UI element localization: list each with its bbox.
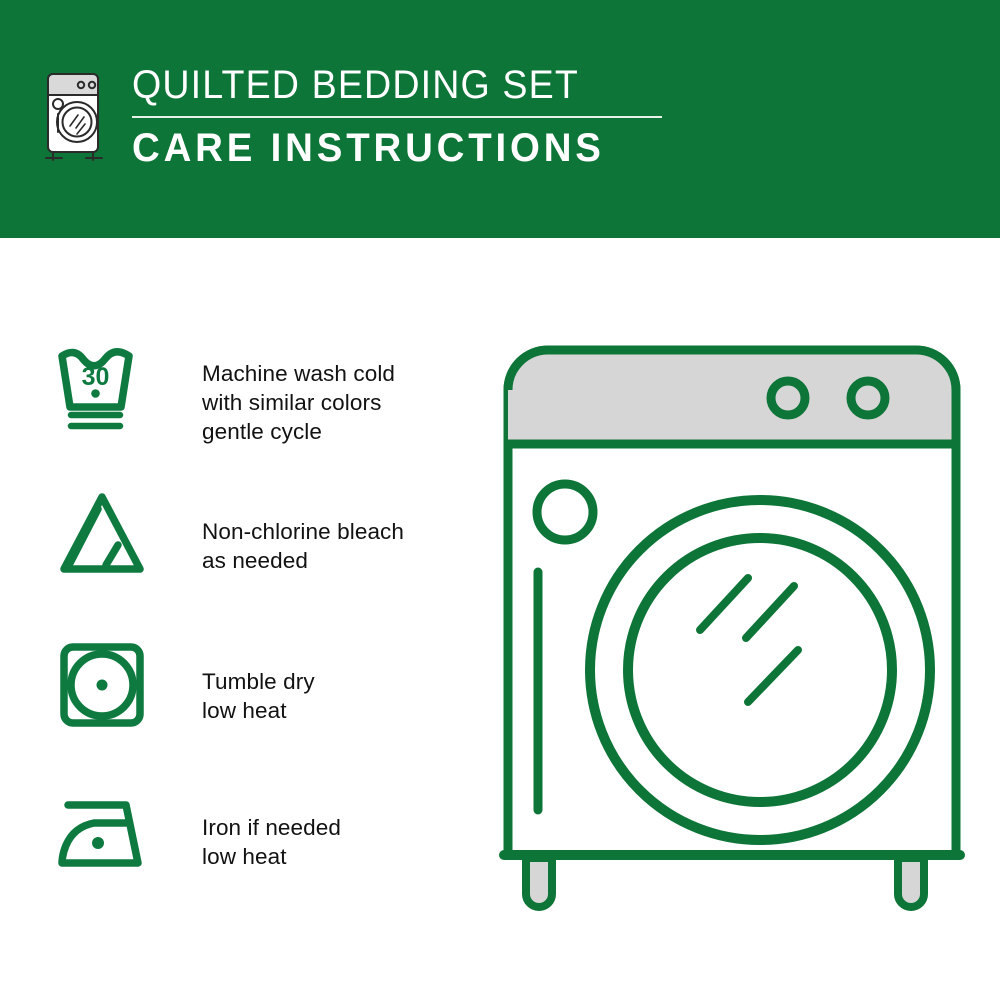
machine-svg xyxy=(480,330,980,930)
care-instruction-list: 30 Machine wash cold with similar colors… xyxy=(48,335,478,935)
care-item-iron: Iron if needed low heat xyxy=(48,785,478,935)
care-item-label: Tumble dry low heat xyxy=(202,635,315,725)
care-item-label: Machine wash cold with similar colors ge… xyxy=(202,335,395,446)
page-title: QUILTED BEDDING SET xyxy=(132,62,630,108)
tumble-dry-icon xyxy=(52,635,152,735)
care-item-label: Iron if needed low heat xyxy=(202,785,341,871)
header-title-block: QUILTED BEDDING SET CARE INSTRUCTIONS xyxy=(132,62,662,171)
washing-machine-illustration xyxy=(480,330,980,930)
iron-icon xyxy=(52,785,152,885)
care-symbol-slot xyxy=(48,635,156,735)
care-symbol-slot: 30 xyxy=(48,335,156,435)
care-symbol-slot xyxy=(48,785,156,885)
svg-text:30: 30 xyxy=(82,363,110,391)
machine-leg-left xyxy=(526,858,552,907)
header-banner: QUILTED BEDDING SET CARE INSTRUCTIONS xyxy=(0,0,1000,238)
care-instructions-page: QUILTED BEDDING SET CARE INSTRUCTIONS 30… xyxy=(0,0,1000,1000)
machine-leg-right xyxy=(898,858,924,907)
care-symbol-slot xyxy=(48,485,156,585)
care-item-tumble-dry: Tumble dry low heat xyxy=(48,635,478,785)
page-subtitle: CARE INSTRUCTIONS xyxy=(132,125,641,171)
title-divider xyxy=(132,116,662,118)
care-item-label: Non-chlorine bleach as needed xyxy=(202,485,404,575)
care-item-bleach: Non-chlorine bleach as needed xyxy=(48,485,478,635)
header-content: QUILTED BEDDING SET CARE INSTRUCTIONS xyxy=(44,62,662,171)
washing-machine-icon xyxy=(44,70,106,166)
care-item-wash: 30 Machine wash cold with similar colors… xyxy=(48,335,478,485)
wash-tub-icon: 30 xyxy=(52,335,152,435)
bleach-triangle-icon xyxy=(52,485,152,585)
